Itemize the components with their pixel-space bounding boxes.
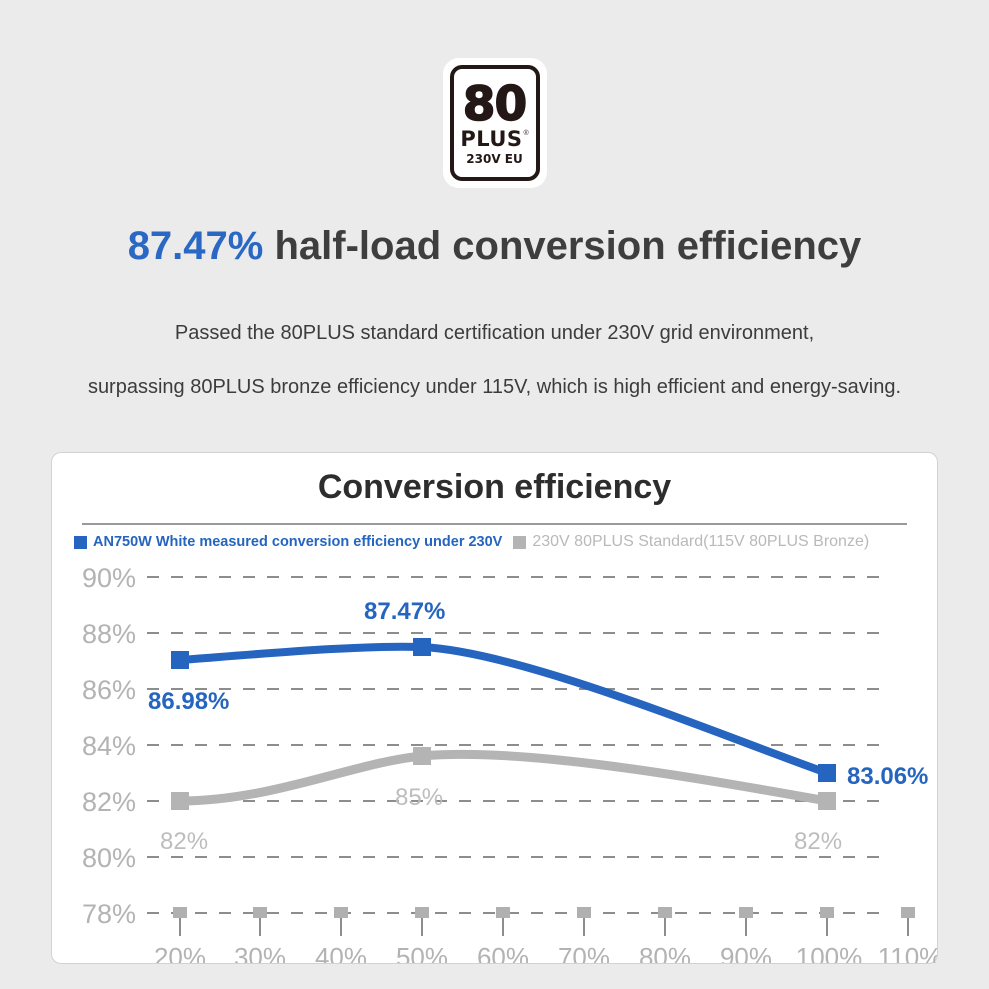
subtitle-line-2: surpassing 80PLUS bronze efficiency unde… xyxy=(0,360,989,414)
chart-legend: AN750W White measured conversion efficie… xyxy=(74,533,869,551)
80-plus-badge-inner: 80 PLUS ® 230V EU xyxy=(450,65,540,181)
badge-number: 80 xyxy=(463,83,526,126)
y-tick-label: 88% xyxy=(82,619,136,649)
x-axis-tick-labels: 20% 30% 40% 50% 60% 70% 80% 90% 100% 110… xyxy=(154,942,937,963)
badge-plus-row: PLUS ® xyxy=(460,129,528,150)
x-tick-label: 90% xyxy=(720,942,772,963)
data-label-measured-50: 87.47% xyxy=(364,598,445,625)
data-point-marker xyxy=(413,747,431,765)
y-tick-label: 86% xyxy=(82,675,136,705)
80-plus-badge: 80 PLUS ® 230V EU xyxy=(443,58,547,188)
y-tick-label: 80% xyxy=(82,843,136,873)
data-label-standard-50: 85% xyxy=(395,784,443,811)
subtitle-line-1: Passed the 80PLUS standard certification… xyxy=(0,306,989,360)
legend-label-measured: AN750W White measured conversion efficie… xyxy=(93,534,502,550)
x-tick-label: 100% xyxy=(796,942,863,963)
line-chart-svg: 90% 88% 86% 84% 82% 80% 78% xyxy=(52,557,937,963)
page-title: 87.47% half-load conversion efficiency xyxy=(0,222,989,270)
subtitle-block: Passed the 80PLUS standard certification… xyxy=(0,306,989,414)
data-label-standard-100: 82% xyxy=(794,828,842,855)
x-tick-label: 20% xyxy=(154,942,206,963)
x-tick-label: 40% xyxy=(315,942,367,963)
headline-accent: 87.47% xyxy=(128,224,264,268)
data-point-marker xyxy=(171,792,189,810)
x-tick-label: 110% xyxy=(878,942,937,963)
data-point-marker xyxy=(413,638,431,656)
y-tick-label: 84% xyxy=(82,731,136,761)
x-axis-ticks xyxy=(173,907,915,936)
gridlines xyxy=(147,577,882,913)
legend-label-standard: 230V 80PLUS Standard(115V 80PLUS Bronze) xyxy=(532,533,869,551)
data-label-measured-20: 86.98% xyxy=(148,688,229,715)
badge-container: 80 PLUS ® 230V EU xyxy=(0,58,989,188)
data-point-marker xyxy=(818,764,836,782)
legend-swatch-icon-blue xyxy=(74,536,87,549)
y-tick-label: 82% xyxy=(82,787,136,817)
x-tick-label: 80% xyxy=(639,942,691,963)
legend-item-standard[interactable]: 230V 80PLUS Standard(115V 80PLUS Bronze) xyxy=(513,533,869,551)
headline-rest: half-load conversion efficiency xyxy=(274,224,861,268)
y-axis-tick-labels: 90% 88% 86% 84% 82% 80% 78% xyxy=(82,563,136,929)
badge-voltage: 230V EU xyxy=(466,153,522,165)
data-point-marker xyxy=(171,651,189,669)
x-tick-label: 50% xyxy=(396,942,448,963)
chart-plot-area: 90% 88% 86% 84% 82% 80% 78% xyxy=(52,557,937,963)
title-divider xyxy=(82,523,907,525)
chart-title: Conversion efficiency xyxy=(52,468,937,507)
y-tick-label: 78% xyxy=(82,899,136,929)
legend-item-measured[interactable]: AN750W White measured conversion efficie… xyxy=(74,534,502,550)
x-tick-label: 30% xyxy=(234,942,286,963)
badge-plus-text: PLUS xyxy=(460,129,522,150)
legend-swatch-icon-gray xyxy=(513,536,526,549)
x-tick-label: 60% xyxy=(477,942,529,963)
registered-trademark-icon: ® xyxy=(524,130,529,137)
y-tick-label: 90% xyxy=(82,563,136,593)
data-label-standard-20: 82% xyxy=(160,828,208,855)
page-root: 80 PLUS ® 230V EU 87.47% half-load conve… xyxy=(0,0,989,989)
chart-card: Conversion efficiency AN750W White measu… xyxy=(51,452,938,964)
data-point-marker xyxy=(818,792,836,810)
series-standard: 82% 85% 82% xyxy=(160,747,842,855)
data-label-measured-100: 83.06% xyxy=(847,763,928,790)
x-tick-label: 70% xyxy=(558,942,610,963)
